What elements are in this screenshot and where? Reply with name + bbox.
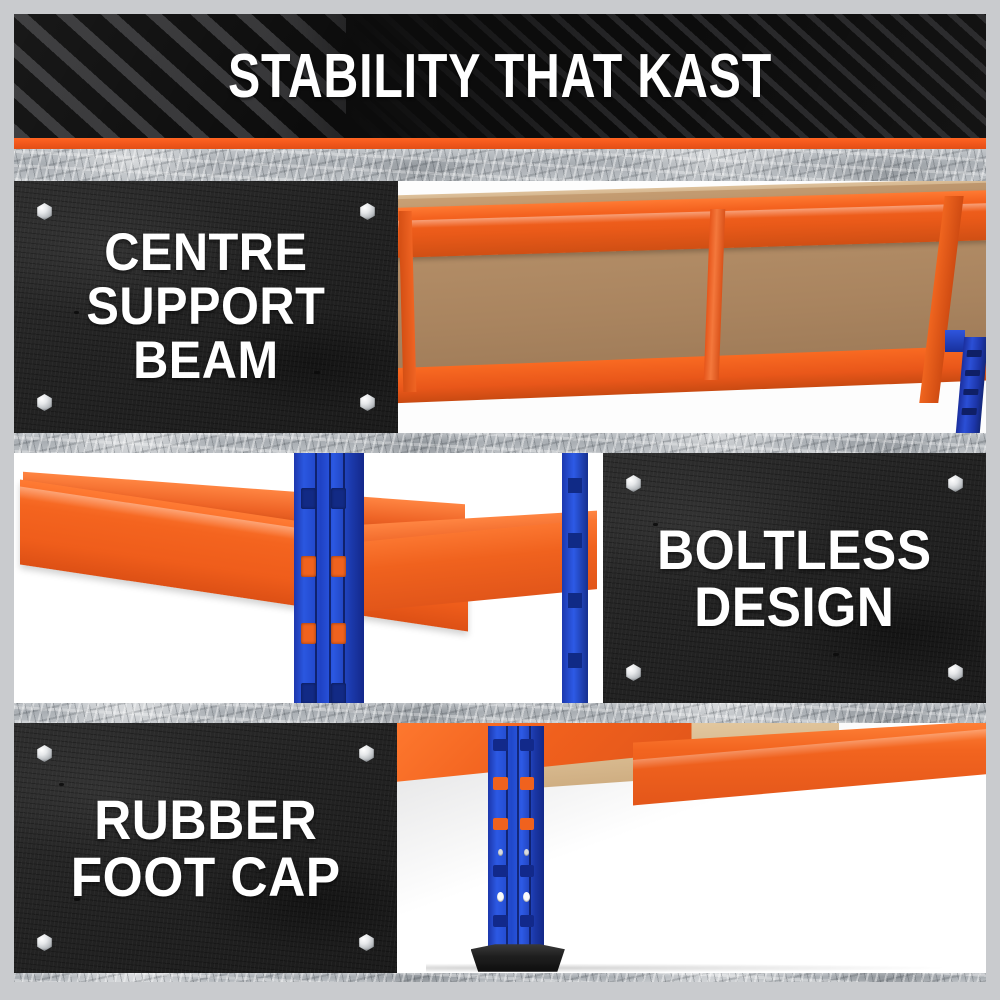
header-banner: STABILITY THAT KAST [14,14,986,138]
page-title: STABILITY THAT KAST [121,14,879,138]
feature-label-text-centre-support-beam: CENTRE SUPPORT BEAM [87,226,326,388]
feature-label-text-rubber-foot-cap: RUBBER FOOT CAP [71,791,341,905]
rivet-icon [359,394,376,411]
feature-label-plate-rubber-foot-cap: RUBBER FOOT CAP [14,723,397,973]
feature-label-line-1: RUBBER [71,791,341,848]
rivet-icon [625,475,642,492]
orange-accent-bar [14,138,986,149]
rivet-icon [947,664,964,681]
feature-label-text-boltless-design: BOLTLESS DESIGN [657,521,932,635]
blue-upright-post [488,726,544,951]
feature-label-line-2: FOOT CAP [71,848,341,905]
rivet-icon [358,745,375,762]
concrete-divider-bottom [14,973,986,982]
feature-label-line-1: CENTRE [87,226,326,280]
rivet-icon [36,203,53,220]
feature-label-line-1: BOLTLESS [657,521,932,578]
concrete-divider-middle-1 [14,433,986,453]
feature-label-plate-centre-support-beam: CENTRE SUPPORT BEAM [14,181,398,433]
feature-label-plate-boltless-design: BOLTLESS DESIGN [603,453,986,703]
concrete-divider-middle-2 [14,703,986,723]
feature-label-line-3: BEAM [87,334,326,388]
rivet-icon [36,934,53,951]
feature-row-boltless-design: BOLTLESS DESIGN [14,453,986,703]
rivet-icon [947,475,964,492]
feature-photo-boltless-design [14,453,603,703]
blue-upright-post [294,453,365,703]
rivet-icon [36,394,53,411]
feature-row-centre-support-beam: CENTRE SUPPORT BEAM [14,181,986,433]
feature-grid: CENTRE SUPPORT BEAM [14,149,986,982]
product-feature-infographic: STABILITY THAT KAST CENTRE SUPPORT BEAM [0,0,1000,1000]
floor-shadow [426,963,986,973]
feature-photo-centre-support-beam [398,181,986,433]
feature-label-line-2: DESIGN [657,578,932,635]
rivet-icon [358,934,375,951]
feature-row-rubber-foot-cap: RUBBER FOOT CAP [14,723,986,973]
concrete-divider-top [14,149,986,181]
feature-photo-rubber-foot-cap [397,723,986,973]
blue-upright-post-far [562,453,589,703]
rivet-icon [625,664,642,681]
rivet-icon [36,745,53,762]
beam-clip [945,330,965,353]
rivet-icon [359,203,376,220]
feature-label-line-2: SUPPORT [87,280,326,334]
